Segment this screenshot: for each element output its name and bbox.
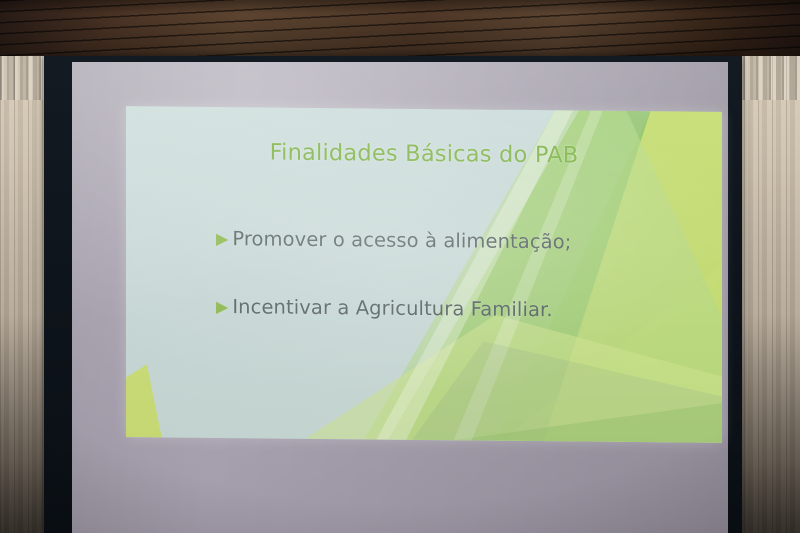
- list-item: ▶ Promover o acesso à alimentação;: [216, 227, 646, 254]
- wooden-ceiling: [0, 0, 800, 56]
- ceiling-shadow: [0, 0, 800, 56]
- projection-screen-frame: Finalidades Básicas do PAB ▶ Promover o …: [44, 56, 742, 533]
- bullet-text: Incentivar a Agricultura Familiar.: [232, 295, 552, 321]
- projection-screen-fabric: Finalidades Básicas do PAB ▶ Promover o …: [72, 62, 728, 533]
- triangle-bullet-icon: ▶: [216, 232, 228, 248]
- triangle-bullet-icon: ▶: [216, 300, 228, 316]
- list-item: ▶ Incentivar a Agricultura Familiar.: [216, 295, 646, 322]
- slide-content: Finalidades Básicas do PAB ▶ Promover o …: [126, 106, 722, 443]
- bullet-text: Promover o acesso à alimentação;: [232, 227, 571, 253]
- projected-slide: Finalidades Básicas do PAB ▶ Promover o …: [126, 106, 722, 443]
- slide-title: Finalidades Básicas do PAB: [126, 138, 722, 170]
- photo-scene: Finalidades Básicas do PAB ▶ Promover o …: [0, 0, 800, 533]
- slide-bullet-list: ▶ Promover o acesso à alimentação; ▶ Inc…: [216, 227, 646, 367]
